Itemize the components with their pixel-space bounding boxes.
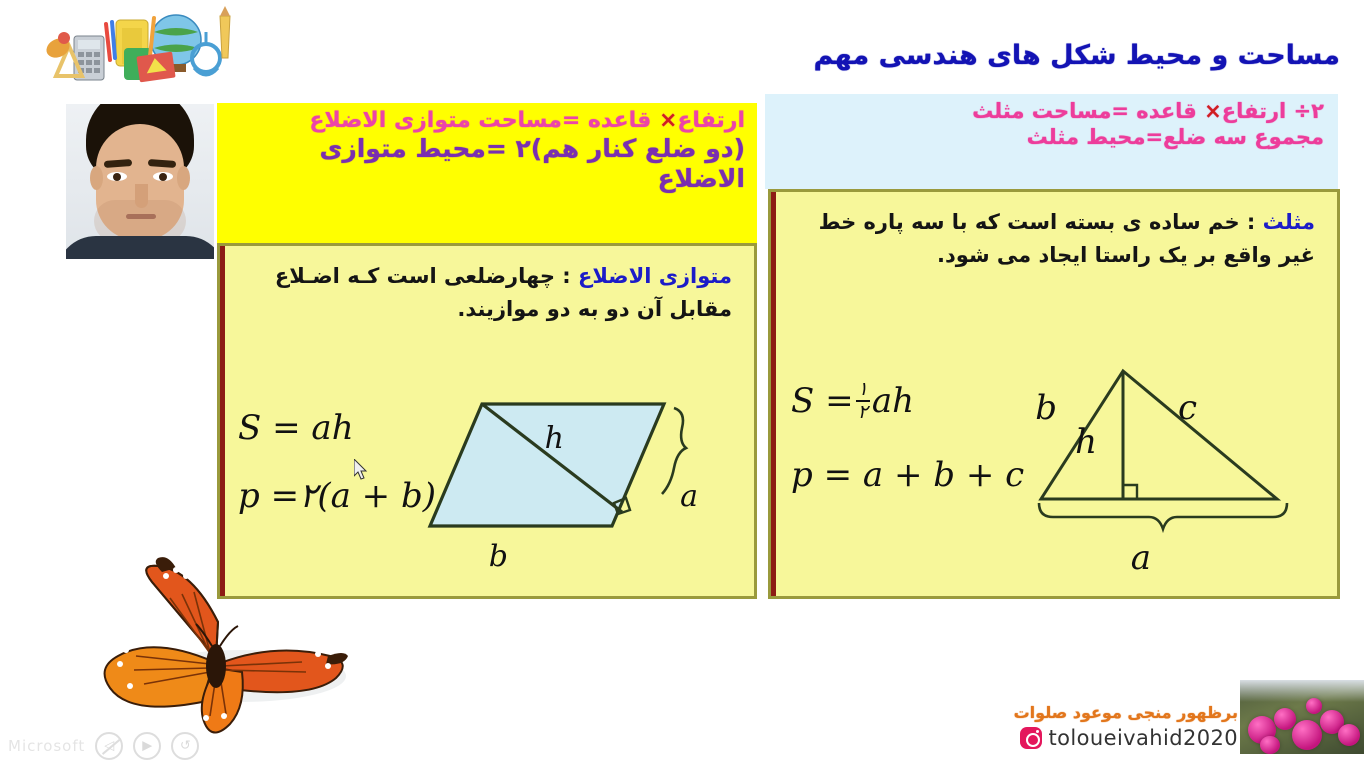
triangle-perimeter-rule: مجموع سه ضلع=محیط مثلث	[779, 125, 1324, 151]
triangle-card: مثلث : خم ساده ی بسته است که با سه پاره …	[768, 189, 1340, 599]
rule-prefix: ارتفاع	[677, 108, 745, 133]
pink-roses-photo	[1240, 680, 1364, 754]
rule-rest: قاعده =مساحت متوازی الاضلاع	[309, 108, 659, 133]
rewind-button[interactable]: ↺	[171, 732, 199, 760]
triangle-diagram: b c h a	[1019, 357, 1339, 587]
equals-sign: =	[272, 408, 301, 448]
mute-icon: ◁	[104, 740, 114, 753]
parallelogram-perimeter-rule-line1: (دو ضلع کنار هم)۲ =محیط متوازی	[229, 134, 745, 164]
parallelogram-diagram: h a b	[416, 386, 746, 586]
play-button[interactable]: ▶	[133, 732, 161, 760]
perimeter-coefficient: ۲	[299, 476, 317, 516]
label-right-side: c	[1178, 388, 1197, 428]
multiply-icon: ×	[1204, 99, 1222, 123]
parallelogram-formula-banner: ارتفاع× قاعده =مساحت متوازی الاضلاع (دو …	[217, 103, 757, 243]
parallelogram-perimeter-rule-line2: الاضلاع	[229, 164, 745, 194]
one-half-fraction: ۱۲	[856, 380, 870, 422]
slide-canvas: مساحت و محیط شکل های هندسی مهم ارتفاع× ق…	[0, 0, 1366, 768]
area-symbol: S	[791, 381, 814, 421]
label-height: h	[545, 421, 564, 456]
parallelogram-formulas: S = ah p =۲(a + b)	[238, 411, 436, 513]
label-base: a	[1131, 538, 1151, 578]
base-brace	[1039, 503, 1287, 529]
teacher-portrait-photo	[66, 104, 214, 259]
multiply-icon: ×	[659, 108, 677, 133]
mouse-cursor	[354, 459, 370, 483]
triangle-definition: مثلث : خم ساده ی بسته است که با سه پاره …	[771, 192, 1337, 271]
parallelogram-area-rule: ارتفاع× قاعده =مساحت متوازی الاضلاع	[229, 109, 745, 134]
monarch-butterfly-image	[66, 546, 386, 736]
brand-slogan: برظهور منجی موعود صلوات	[1014, 703, 1238, 722]
fraction-numerator: ۱	[856, 380, 870, 399]
label-height: h	[1075, 422, 1097, 462]
player-watermark-label: Microsoft	[8, 737, 85, 755]
triangle-definition-text: : خم ساده ی بسته است که با سه پاره خط غی…	[819, 210, 1315, 267]
equals-sign: =	[825, 381, 854, 421]
rule-prefix: ۲÷ ارتفاع	[1222, 99, 1324, 123]
school-supplies-clipart	[38, 2, 238, 94]
equals-sign: =	[271, 476, 300, 516]
rewind-icon: ↺	[180, 740, 191, 753]
instagram-icon[interactable]	[1020, 727, 1042, 749]
card-accent-bar	[771, 192, 776, 596]
brand-handle: toloueivahid2020	[1049, 726, 1238, 750]
parallelogram-area-formula: S = ah	[238, 411, 436, 445]
area-symbol: S	[238, 408, 261, 448]
butterfly-svg	[66, 546, 386, 736]
fraction-denominator: ۲	[856, 403, 870, 422]
perimeter-symbol: p	[791, 455, 813, 495]
rule-rest: قاعده =مساحت مثلث	[972, 99, 1204, 123]
parallelogram-perimeter-formula: p =۲(a + b)	[238, 479, 436, 513]
play-icon: ▶	[142, 740, 152, 753]
clipart-svg	[38, 2, 238, 94]
card-accent-bar	[220, 246, 225, 596]
triangle-perimeter-formula: p = a + b + c	[791, 458, 1024, 492]
perimeter-symbol: p	[238, 476, 260, 516]
triangle-term: مثلث	[1263, 210, 1315, 234]
triangle-area-rule: ۲÷ ارتفاع× قاعده =مساحت مثلث	[779, 99, 1324, 125]
brand-handle-row[interactable]: toloueivahid2020	[1014, 726, 1238, 750]
label-left-side: b	[1035, 388, 1057, 428]
right-angle-marker	[1123, 485, 1137, 499]
video-player-controls[interactable]: ↺ ▶ ◁ Microsoft	[8, 732, 199, 760]
parallelogram-term: متوازی الاضلاع	[578, 264, 732, 288]
area-expression: ah	[872, 381, 914, 421]
triangle-formulas: S =۱۲ah p = a + b + c	[791, 382, 1024, 492]
page-title: مساحت و محیط شکل های هندسی مهم	[813, 40, 1340, 71]
equals-sign: =	[824, 455, 853, 495]
area-expression: ah	[311, 408, 353, 448]
triangle-formula-banner: ۲÷ ارتفاع× قاعده =مساحت مثلث مجموع سه ضل…	[765, 94, 1338, 189]
parallelogram-definition: متوازی الاضلاع : چهارضلعی است کـه اضـلاع…	[220, 246, 754, 325]
label-side: a	[680, 479, 698, 514]
mute-button[interactable]: ◁	[95, 732, 123, 760]
triangle-area-formula: S =۱۲ah	[791, 382, 1024, 424]
perimeter-expression: a + b + c	[863, 455, 1024, 495]
channel-branding: برظهور منجی موعود صلوات toloueivahid2020	[1014, 703, 1238, 750]
label-base: b	[489, 539, 508, 574]
